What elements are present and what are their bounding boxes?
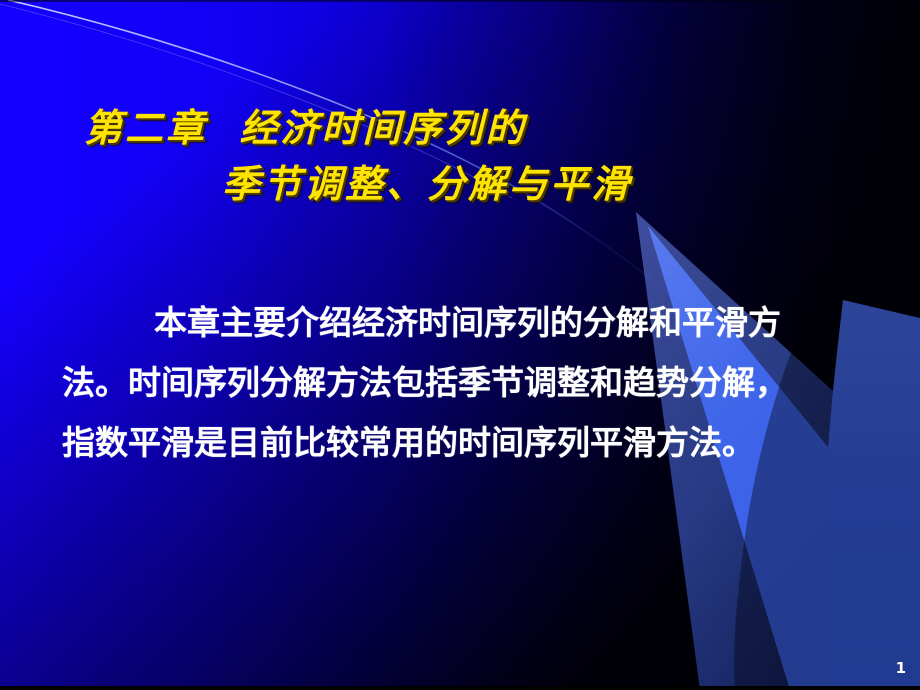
- presentation-slide: 第二章 经济时间序列的 季节调整、分解与平滑 本章主要介绍经济时间序列的分解和平…: [0, 0, 920, 690]
- slide-background-artwork: [0, 0, 920, 690]
- page-number: 1: [896, 661, 906, 676]
- bottom-strip: [0, 686, 920, 690]
- top-strip: [0, 0, 920, 2]
